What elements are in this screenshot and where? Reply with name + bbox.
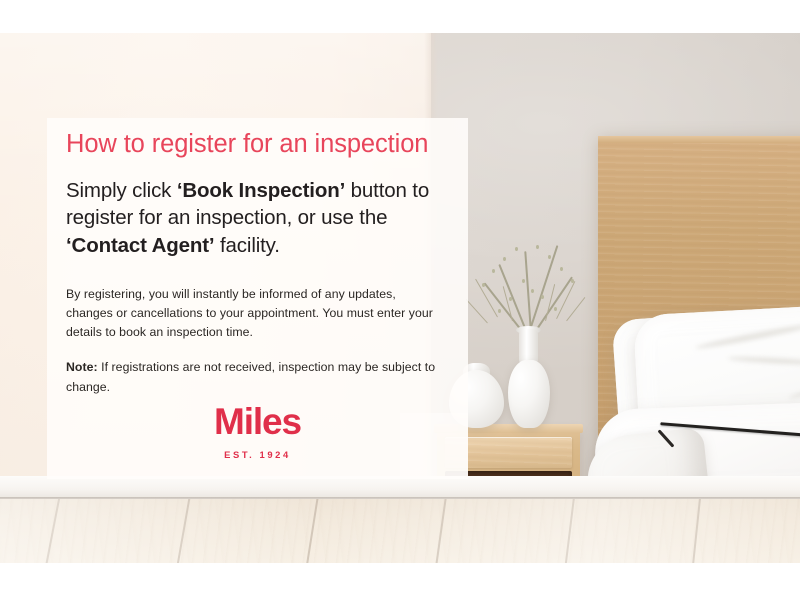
registration-info-paragraph: By registering, you will instantly be in… <box>66 285 446 343</box>
instruction-text: Simply click ‘Book Inspection’ button to… <box>66 177 456 259</box>
bed-headboard-top-edge <box>598 136 800 143</box>
letterbox-top <box>0 0 800 33</box>
instruction-part-1: Simply click <box>66 179 177 202</box>
note-label: Note: <box>66 360 98 374</box>
brand-logo: Miles EST. 1924 <box>47 403 468 460</box>
brand-name: Miles <box>47 403 468 440</box>
bedroom-scene-photo: How to register for an inspection Simply… <box>0 33 800 563</box>
floor-sheen <box>0 499 800 563</box>
info-panel-content: How to register for an inspection Simply… <box>66 129 458 397</box>
book-inspection-emphasis: ‘Book Inspection’ <box>177 179 345 202</box>
instruction-part-3: facility. <box>214 234 279 257</box>
contact-agent-emphasis: ‘Contact Agent’ <box>66 234 214 257</box>
brand-established: EST. 1924 <box>47 449 468 460</box>
image-canvas: How to register for an inspection Simply… <box>0 0 800 600</box>
wood-floor <box>0 499 800 563</box>
vase-tall <box>508 360 550 428</box>
note-text: If registrations are not received, inspe… <box>66 360 435 393</box>
page-title: How to register for an inspection <box>66 129 458 159</box>
letterbox-bottom <box>0 563 800 600</box>
note-paragraph: Note: If registrations are not received,… <box>66 358 446 396</box>
